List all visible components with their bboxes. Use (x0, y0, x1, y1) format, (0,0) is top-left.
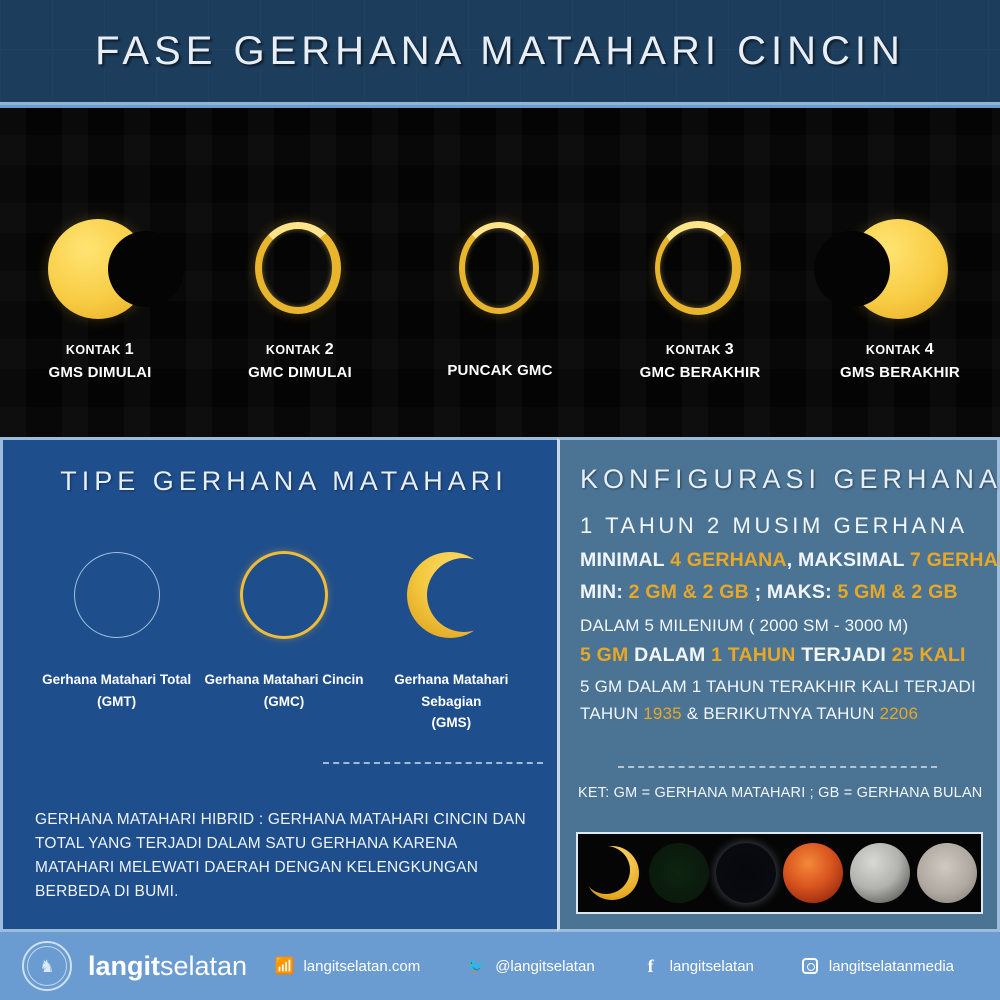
config-line-last-a: 5 GM DALAM 1 TAHUN TERAKHIR KALI TERJADI (580, 675, 981, 698)
highlight-year-2206: 2206 (880, 704, 919, 723)
sun-bitten-right-icon (46, 216, 154, 324)
full-moon-thumb (917, 843, 977, 903)
phase-name-label: GMC DIMULAI (248, 362, 352, 385)
type-name: Gerhana Matahari Sebagian (368, 669, 535, 712)
text-part: MIN: (580, 581, 629, 603)
annular-ring-icon (238, 549, 330, 641)
annular-ring-icon (646, 216, 754, 324)
type-abbr: (GMC) (204, 691, 363, 713)
brand-wordmark: langitselatan (88, 951, 247, 982)
text-part: TAHUN (580, 704, 643, 723)
text-part: , MAKSIMAL (787, 549, 910, 571)
crescent-eclipse-thumb (582, 843, 642, 903)
phase-contact-label: KONTAK 4 (840, 338, 960, 362)
footer-links: 📶 langitselatan.com 🐦 @langitselatan f l… (274, 956, 1000, 976)
phase-item-4: KONTAK 3 GMC BERAKHIR (600, 216, 800, 385)
eclipse-type-annular: Gerhana Matahari Cincin (GMC) (200, 549, 367, 712)
highlight-5gm: 5 GM (580, 644, 628, 666)
dashed-divider (323, 762, 543, 764)
type-name: Gerhana Matahari Total (42, 669, 191, 691)
type-label: Gerhana Matahari Cincin (GMC) (204, 669, 363, 712)
eclipse-config-panel: KONFIGURASI GERHANA 1 TAHUN 2 MUSIM GERH… (557, 437, 1000, 932)
text-part: MINIMAL (580, 549, 670, 571)
config-panel-title: KONFIGURASI GERHANA (580, 464, 981, 495)
page-title: FASE GERHANA MATAHARI CINCIN (95, 29, 905, 74)
phase-item-2: KONTAK 2 GMC DIMULAI (200, 216, 400, 385)
eclipse-phases-section: KONTAK 1 GMS DIMULAI KONTAK 2 GMC DIMULA… (0, 108, 1000, 437)
config-line-seasons: 1 TAHUN 2 MUSIM GERHANA (580, 511, 981, 541)
config-line-minmax: MINIMAL 4 GERHANA, MAKSIMAL 7 GERHANA (580, 547, 981, 574)
instagram-icon (800, 956, 820, 976)
phase-item-5: KONTAK 4 GMS BERAKHIR (800, 216, 1000, 385)
link-facebook[interactable]: f langitselatan (641, 956, 754, 976)
phase-contact-number: 3 (725, 341, 734, 358)
phase-name-label: PUNCAK GMC (447, 360, 552, 383)
config-line-minmax-detail: MIN: 2 GM & 2 GB ; MAKS: 5 GM & 2 GB (580, 579, 981, 606)
highlight-year-1935: 1935 (643, 704, 682, 723)
phase-contact-number: 1 (125, 341, 134, 358)
highlight-25-kali: 25 KALI (892, 644, 966, 666)
highlight-min-eclipses: 4 GERHANA (670, 549, 787, 571)
phase-name-label: GMS BERAKHIR (840, 362, 960, 385)
brand-light-part: selatan (160, 951, 247, 981)
legend-note: KET: GM = GERHANA MATAHARI ; GB = GERHAN… (578, 785, 987, 801)
phase-contact-label: KONTAK 3 (640, 338, 761, 362)
link-label: langitselatan (670, 958, 754, 975)
link-label: @langitselatan (495, 958, 594, 975)
annular-ring-icon (246, 216, 354, 324)
link-label: langitselatan.com (303, 958, 420, 975)
highlight-max-combo: 5 GM & 2 GB (837, 581, 957, 603)
total-solar-eclipse-thumb (716, 843, 776, 903)
footer-bar: ♞ langitselatan 📶 langitselatan.com 🐦 @l… (0, 932, 1000, 1000)
highlight-max-eclipses: 7 GERHANA (910, 549, 1000, 571)
eclipse-types-panel: TIPE GERHANA MATAHARI Gerhana Matahari T… (0, 437, 557, 932)
partial-lunar-eclipse-thumb (850, 843, 910, 903)
annular-eclipse-thumb (649, 843, 709, 903)
link-website[interactable]: 📶 langitselatan.com (274, 956, 420, 976)
dashed-divider (618, 766, 937, 768)
types-panel-title: TIPE GERHANA MATAHARI (33, 466, 535, 497)
type-label: Gerhana Matahari Sebagian (GMS) (368, 669, 535, 734)
eclipse-photo-strip (576, 832, 983, 914)
phase-contact-number: 2 (325, 341, 334, 358)
text-part: & BERIKUTNYA TAHUN (682, 704, 880, 723)
lower-panels: TIPE GERHANA MATAHARI Gerhana Matahari T… (0, 437, 1000, 932)
sun-bitten-left-icon (846, 216, 954, 324)
phase-name-label: GMS DIMULAI (48, 362, 151, 385)
total-lunar-eclipse-thumb (783, 843, 843, 903)
config-line-millennium: DALAM 5 MILENIUM ( 2000 SM - 3000 M) (580, 614, 981, 637)
rss-icon: 📶 (274, 956, 294, 976)
config-line-last-b: TAHUN 1935 & BERIKUTNYA TAHUN 2206 (580, 702, 981, 725)
phase-contact-number: 4 (925, 341, 934, 358)
phase-contact-label: KONTAK 2 (248, 338, 352, 362)
twitter-icon: 🐦 (466, 956, 486, 976)
text-part: ; MAKS: (749, 581, 837, 603)
phase-name-label: GMC BERAKHIR (640, 362, 761, 385)
eclipse-type-list: Gerhana Matahari Total (GMT) Gerhana Mat… (33, 549, 535, 734)
config-line-5gm: 5 GM DALAM 1 TAHUN TERJADI 25 KALI (580, 642, 981, 669)
crescent-icon (405, 549, 497, 641)
type-abbr: (GMT) (42, 691, 191, 713)
type-name: Gerhana Matahari Cincin (204, 669, 363, 691)
phase-item-1: KONTAK 1 GMS DIMULAI (0, 216, 200, 385)
brand-bold-part: langit (88, 951, 160, 981)
type-label: Gerhana Matahari Total (GMT) (42, 669, 191, 712)
annular-ring-icon (446, 216, 554, 324)
link-label: langitselatanmedia (829, 958, 954, 975)
link-instagram[interactable]: langitselatanmedia (800, 956, 954, 976)
horse-rider-glyph: ♞ (39, 958, 54, 975)
facebook-icon: f (641, 956, 661, 976)
phase-contact-label: KONTAK 1 (48, 338, 151, 362)
highlight-min-combo: 2 GM & 2 GB (629, 581, 749, 603)
type-abbr: (GMS) (368, 712, 535, 734)
hybrid-eclipse-note: GERHANA MATAHARI HIBRID : GERHANA MATAHA… (35, 808, 531, 904)
infographic-root: FASE GERHANA MATAHARI CINCIN KONTAK 1 GM… (0, 0, 1000, 1000)
brand-block: ♞ langitselatan (22, 941, 274, 991)
text-part: DALAM (628, 644, 711, 666)
langitselatan-seal-logo: ♞ (22, 941, 72, 991)
total-eclipse-circle-icon (71, 549, 163, 641)
phase-item-3: PUNCAK GMC (400, 216, 600, 383)
header-banner: FASE GERHANA MATAHARI CINCIN (0, 0, 1000, 105)
eclipse-type-total: Gerhana Matahari Total (GMT) (33, 549, 200, 712)
link-twitter[interactable]: 🐦 @langitselatan (466, 956, 594, 976)
text-part: TERJADI (796, 644, 892, 666)
highlight-1-tahun: 1 TAHUN (711, 644, 795, 666)
eclipse-type-partial: Gerhana Matahari Sebagian (GMS) (368, 549, 535, 734)
